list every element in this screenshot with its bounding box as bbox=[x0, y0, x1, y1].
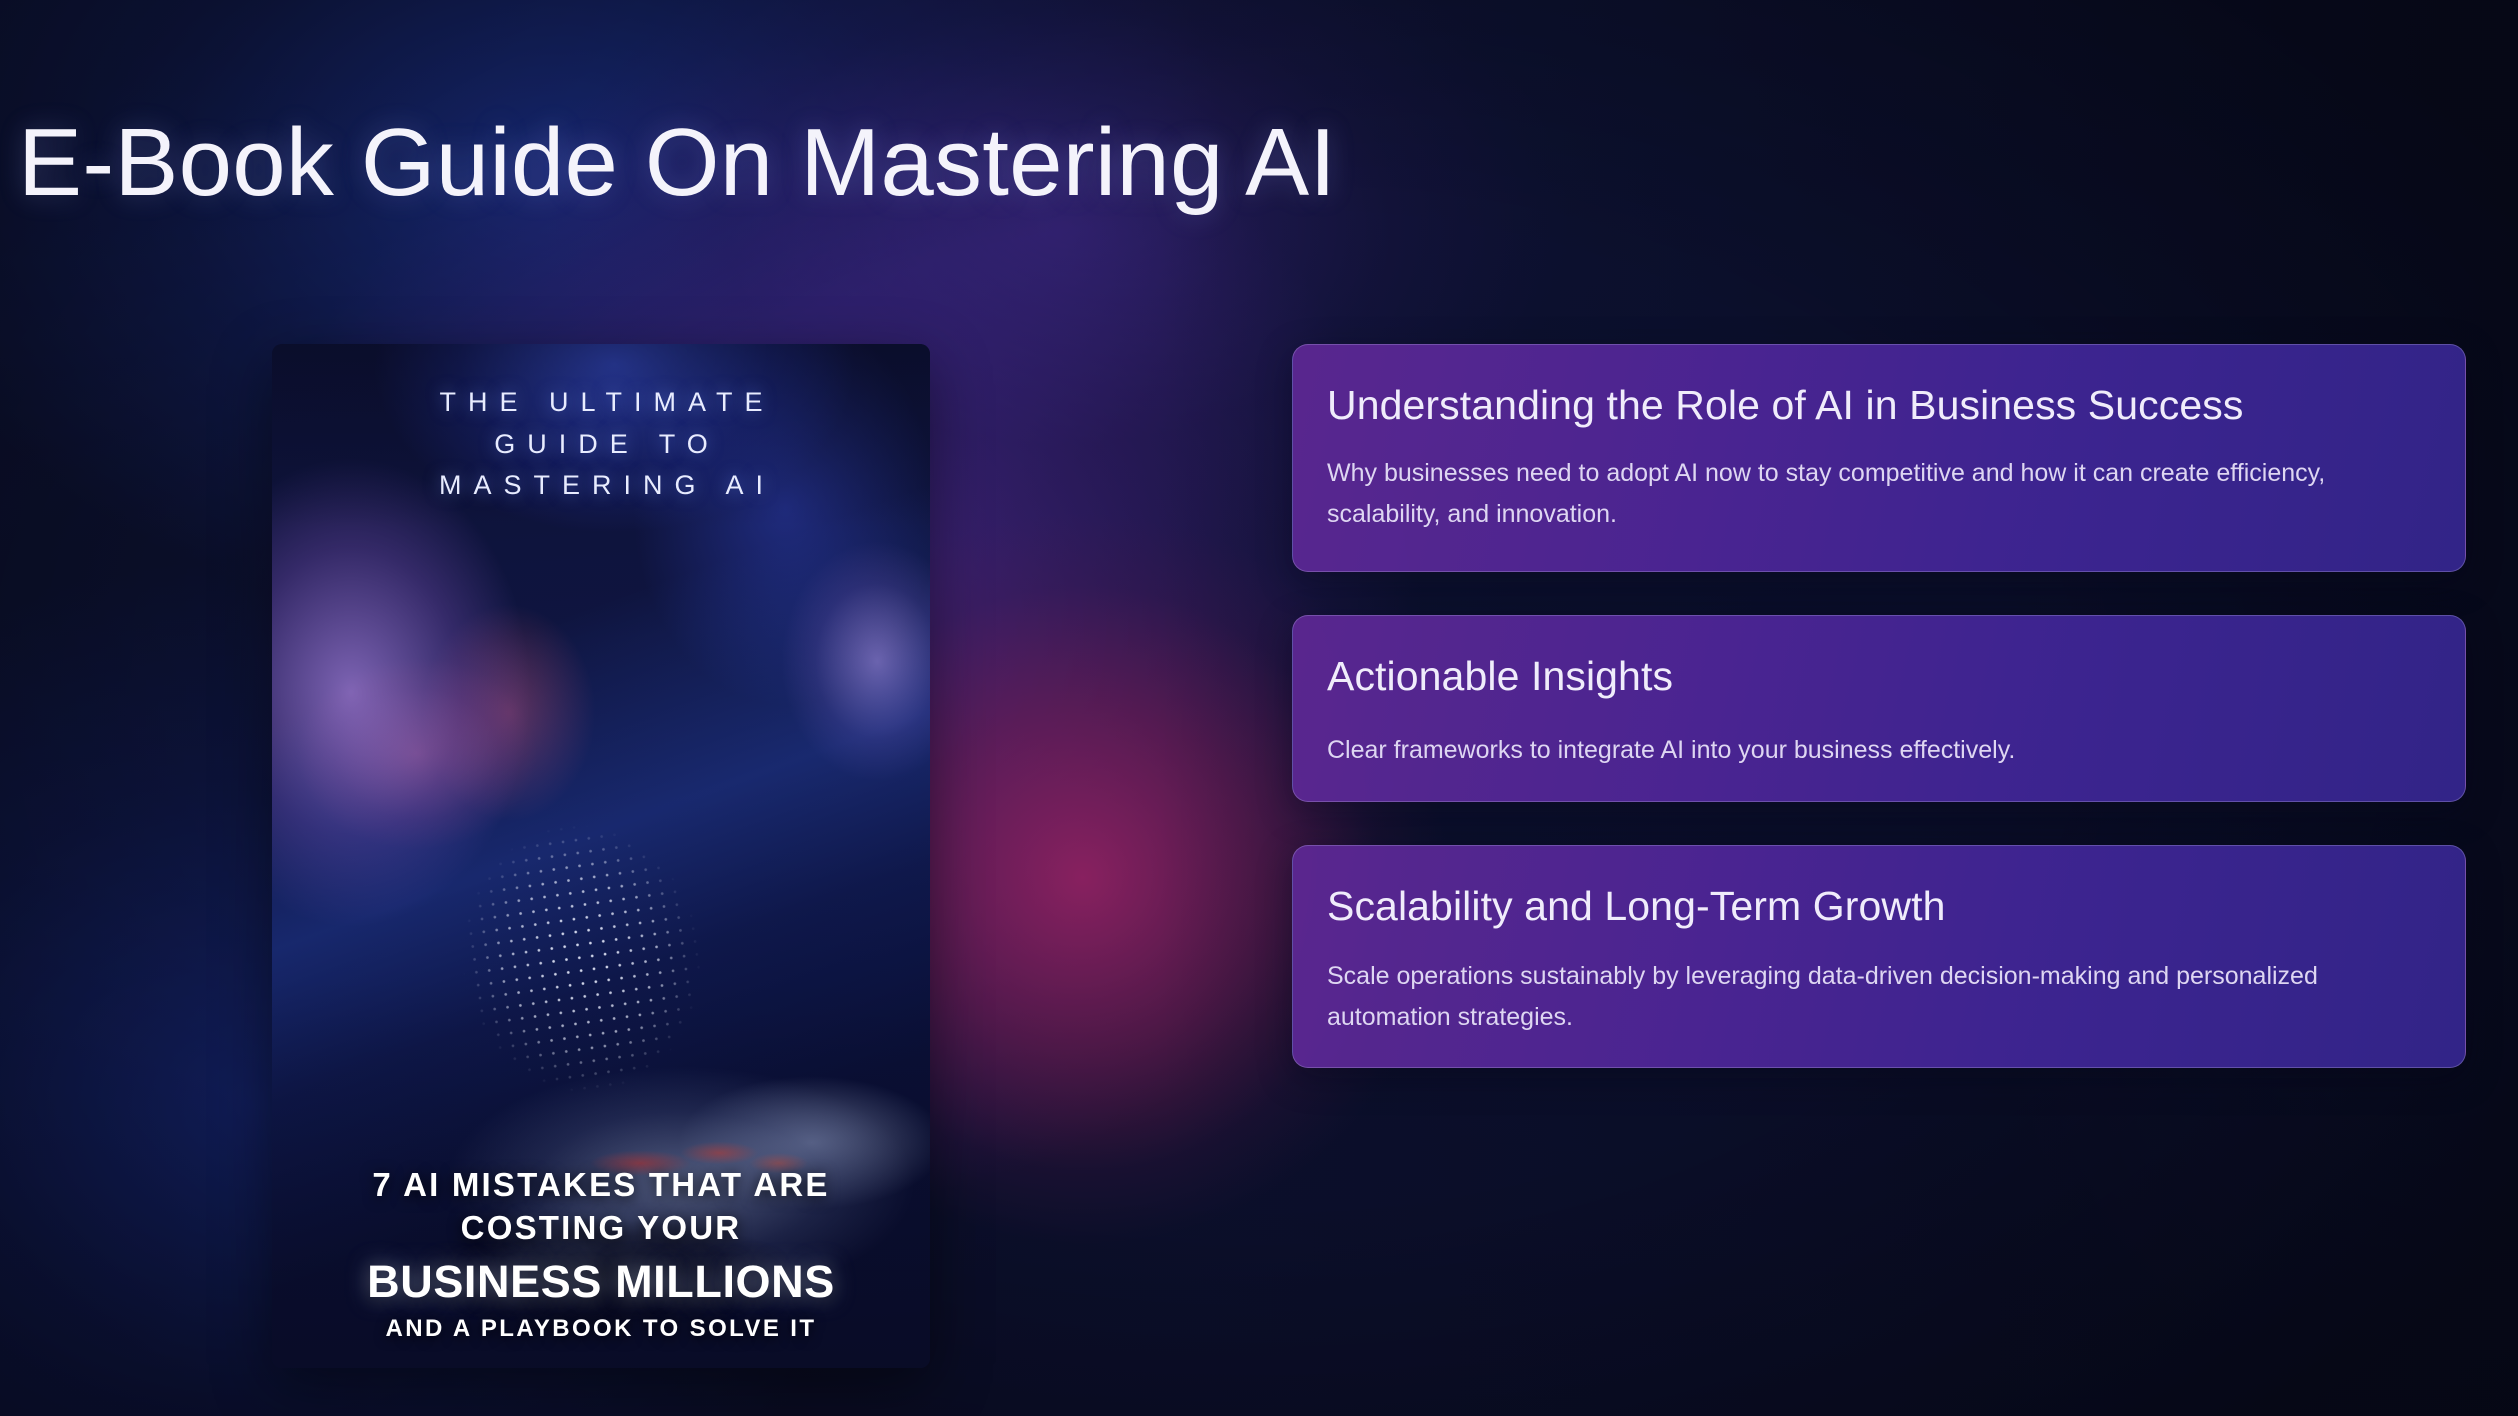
feature-card-scalability-growth[interactable]: Scalability and Long-Term Growth Scale o… bbox=[1292, 845, 2466, 1068]
feature-card-description: Scale operations sustainably by leveragi… bbox=[1327, 956, 2402, 1037]
book-cover-subheadline: 7 AI MISTAKES THAT ARE COSTING YOUR BUSI… bbox=[272, 1163, 930, 1346]
book-cover-footer-line-2: COSTING YOUR bbox=[272, 1206, 930, 1250]
book-cover-footer-line-4: AND A PLAYBOOK TO SOLVE IT bbox=[272, 1312, 930, 1346]
book-cover-footer-line-3: BUSINESS MILLIONS bbox=[272, 1254, 930, 1311]
feature-card-title: Scalability and Long-Term Growth bbox=[1327, 880, 2431, 932]
feature-card-description: Why businesses need to adopt AI now to s… bbox=[1327, 453, 2402, 534]
book-cover-image: THE ULTIMATE GUIDE TO MASTERING AI 7 AI … bbox=[272, 344, 930, 1368]
feature-card-title: Actionable Insights bbox=[1327, 650, 2431, 702]
feature-card-actionable-insights[interactable]: Actionable Insights Clear frameworks to … bbox=[1292, 615, 2466, 802]
book-cover-headline: THE ULTIMATE GUIDE TO MASTERING AI bbox=[272, 382, 930, 507]
feature-card-list: Understanding the Role of AI in Business… bbox=[1292, 344, 2466, 1068]
page-title: E-Book Guide On Mastering AI bbox=[18, 108, 1336, 218]
feature-card-understanding-ai-role[interactable]: Understanding the Role of AI in Business… bbox=[1292, 344, 2466, 572]
book-cover-headline-line-1: THE ULTIMATE bbox=[272, 382, 930, 424]
feature-card-title: Understanding the Role of AI in Business… bbox=[1327, 379, 2431, 431]
book-cover-footer-line-1: 7 AI MISTAKES THAT ARE bbox=[272, 1163, 930, 1207]
book-cover-headline-line-2: GUIDE TO bbox=[272, 424, 930, 466]
feature-card-description: Clear frameworks to integrate AI into yo… bbox=[1327, 730, 2402, 771]
book-cover-headline-line-3: MASTERING AI bbox=[272, 465, 930, 507]
